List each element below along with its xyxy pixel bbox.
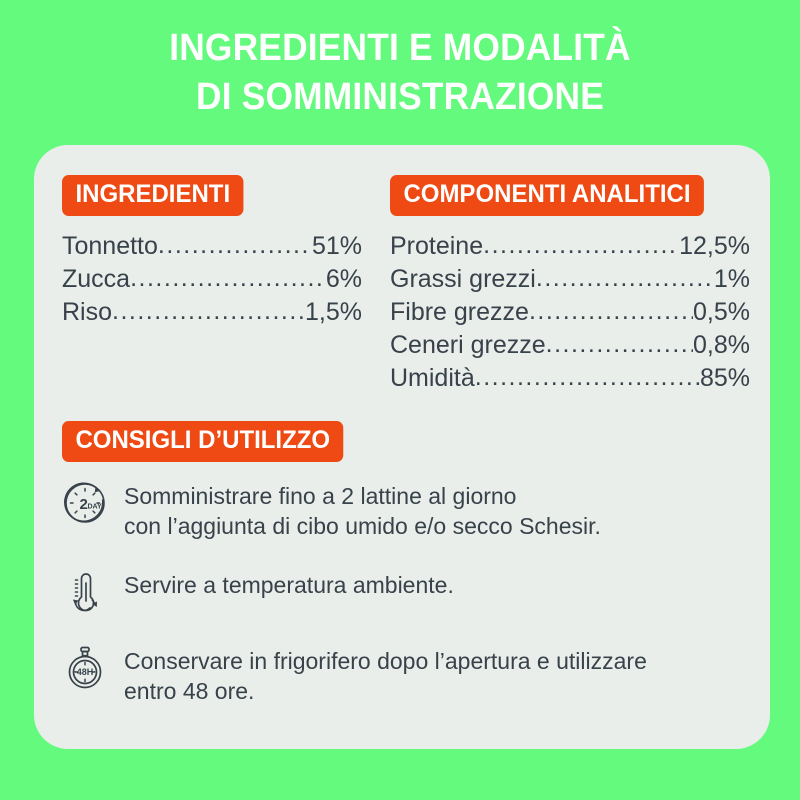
leader-dots: ..........................: [483, 229, 679, 262]
table-row: Ceneri grezze .................... 0,8%: [390, 329, 750, 362]
ingredient-name: Tonnetto: [62, 230, 158, 263]
ingredient-value: 6%: [326, 263, 362, 296]
ingredient-value: 1,5%: [305, 296, 362, 329]
page-title: INGREDIENTI E MODALITÀ DI SOMMINISTRAZIO…: [28, 24, 772, 121]
usage-tips-list: 2 DAY Somministrare fino a 2 lattine al …: [62, 478, 752, 732]
component-name: Grassi grezzi: [390, 263, 536, 296]
table-row: Riso ....................... 1,5%: [62, 296, 362, 329]
list-item: 2 DAY Somministrare fino a 2 lattine al …: [62, 478, 752, 541]
svg-text:·48H·: ·48H·: [74, 667, 97, 677]
table-row: Umidità .............................. 8…: [390, 362, 750, 395]
component-value: 0,5%: [693, 296, 750, 329]
table-row: Fibre grezze ...................... 0,5%: [390, 296, 750, 329]
tip-text: Conservare in frigorifero dopo l’apertur…: [124, 643, 647, 706]
ingredient-name: Riso: [62, 296, 112, 329]
component-name: Umidità: [390, 362, 475, 395]
leader-dots: .....................: [536, 262, 714, 295]
svg-text:DAY: DAY: [88, 504, 102, 511]
nutrition-columns: INGREDIENTI Tonnetto .................. …: [34, 175, 770, 405]
component-value: 85%: [700, 362, 750, 395]
stopwatch-48h-icon: ·48H·: [62, 643, 108, 693]
analytical-components-list: Proteine .......................... 12,5…: [390, 230, 750, 395]
leader-dots: ......................: [529, 295, 693, 328]
component-value: 1%: [714, 263, 750, 296]
list-item: Servire a temperatura ambiente.: [62, 567, 752, 617]
ingredients-badge: INGREDIENTI: [62, 175, 244, 216]
ingredients-column: INGREDIENTI Tonnetto .................. …: [62, 175, 362, 329]
table-row: Zucca ........................ 6%: [62, 263, 362, 296]
table-row: Proteine .......................... 12,5…: [390, 230, 750, 263]
info-card: INGREDIENTI Tonnetto .................. …: [34, 145, 770, 749]
leader-dots: ..............................: [475, 361, 700, 394]
component-name: Ceneri grezze: [390, 329, 546, 362]
table-row: Tonnetto .................. 51%: [62, 230, 362, 263]
leader-dots: ....................: [546, 328, 693, 361]
tip-text: Somministrare fino a 2 lattine al giorno…: [124, 478, 601, 541]
ingredients-list: Tonnetto .................. 51% Zucca ..…: [62, 230, 362, 329]
ingredient-name: Zucca: [62, 263, 130, 296]
component-value: 0,8%: [693, 329, 750, 362]
tip-text: Servire a temperatura ambiente.: [124, 567, 454, 600]
component-name: Fibre grezze: [390, 296, 529, 329]
usage-tips-header: CONSIGLI D’UTILIZZO: [62, 421, 355, 462]
thermometer-room-temperature-icon: [62, 567, 108, 617]
leader-dots: ..................: [158, 229, 312, 262]
leader-dots: .......................: [112, 295, 305, 328]
component-value: 12,5%: [679, 230, 750, 263]
analytical-components-badge: COMPONENTI ANALITICI: [390, 175, 704, 216]
component-name: Proteine: [390, 230, 483, 263]
list-item: ·48H· Conservare in frigorifero dopo l’a…: [62, 643, 752, 706]
ingredient-value: 51%: [312, 230, 362, 263]
analytical-components-column: COMPONENTI ANALITICI Proteine ..........…: [390, 175, 750, 395]
usage-tips-badge: CONSIGLI D’UTILIZZO: [62, 421, 344, 462]
two-day-cycle-icon: 2 DAY: [62, 478, 108, 528]
table-row: Grassi grezzi ..................... 1%: [390, 263, 750, 296]
leader-dots: ........................: [130, 262, 326, 295]
